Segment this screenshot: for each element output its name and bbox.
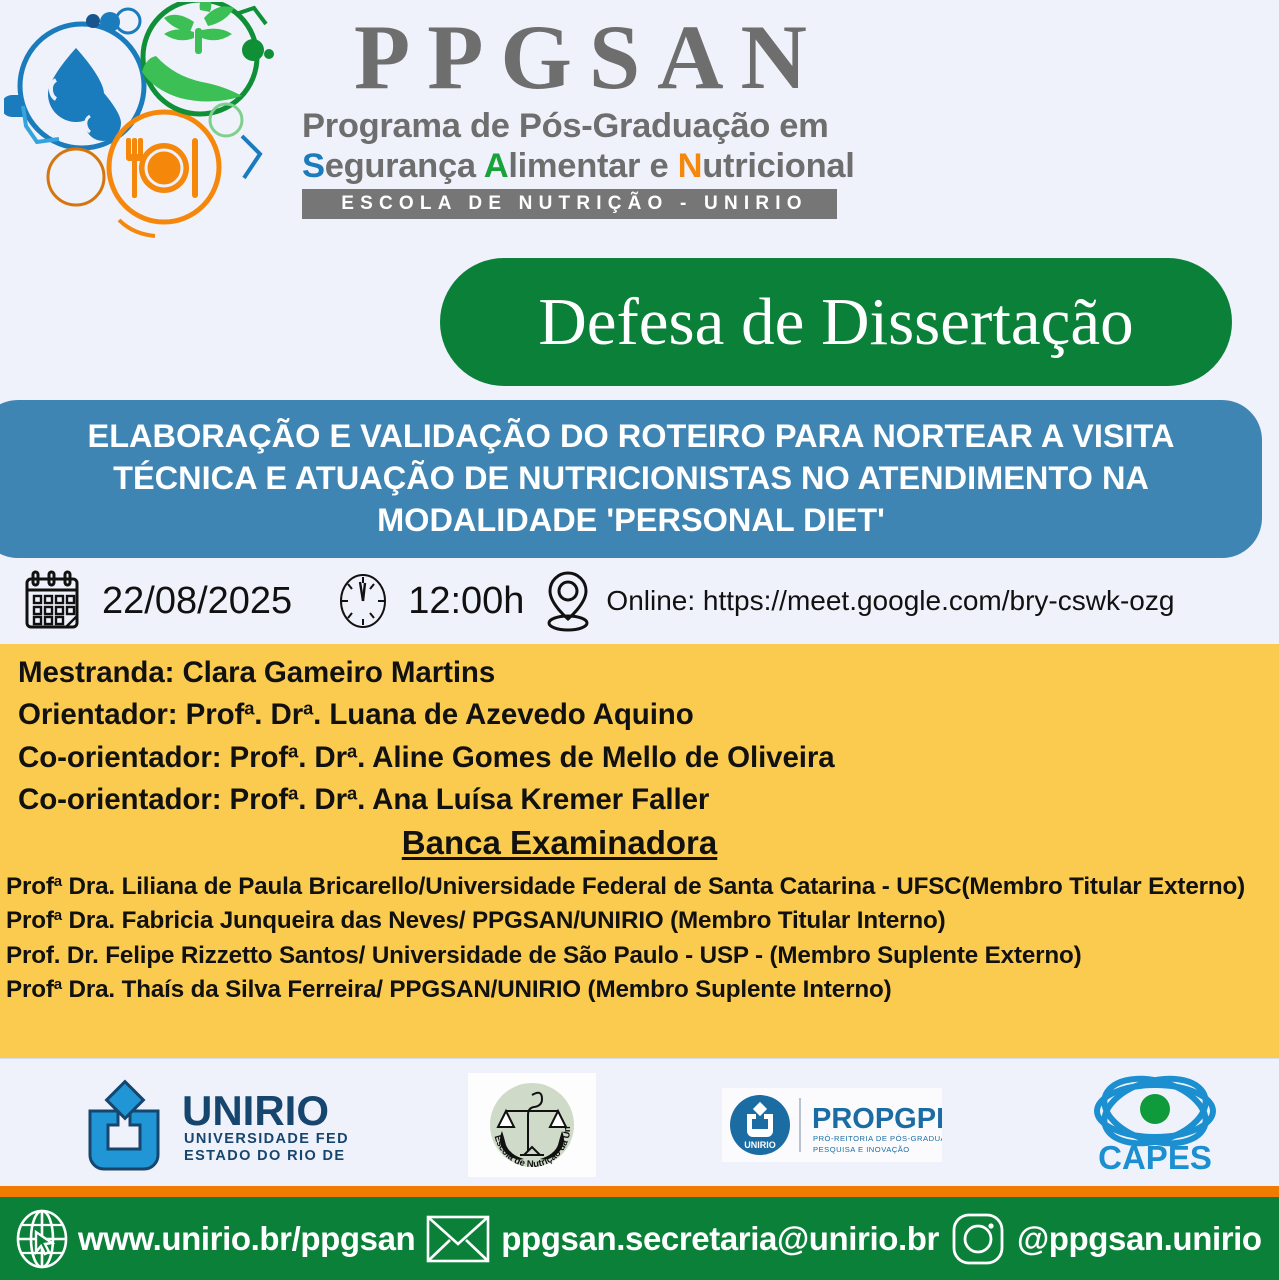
list-item: Profa Dra. Fabricia Junqueira das Neves/… xyxy=(6,904,1273,938)
event-place-value: Online: https://meet.google.com/bry-cswk… xyxy=(606,585,1174,617)
event-date: 22/08/2025 xyxy=(24,570,292,632)
sponsor-logos-strip: UNIRIO UNIVERSIDADE FEDERAL DO ESTADO DO… xyxy=(0,1058,1279,1186)
list-item: Co-orientador: Profa. Dra. Aline Gomes d… xyxy=(18,737,1279,779)
participants-section: Mestranda: Clara Gameiro Martins Orienta… xyxy=(0,644,1279,1058)
unirio-mark xyxy=(90,1082,158,1169)
footer-instagram-text: @ppgsan.unirio xyxy=(1017,1220,1262,1258)
propgpi-mark: UNIRIO xyxy=(744,1140,776,1150)
thesis-title: ELABORAÇÃO E VALIDAÇÃO DO ROTEIRO PARA N… xyxy=(40,416,1200,542)
header: PPGSAN Programa de Pós-Graduação em Segu… xyxy=(0,0,1279,252)
unirio-sub2: ESTADO DO RIO DE JANEIRO xyxy=(184,1148,348,1164)
escola-nutricao-logo: Escola de Nutrição da Unirio xyxy=(468,1073,596,1177)
committee-list: Profa Dra. Liliana de Paula Bricarello/U… xyxy=(0,862,1279,1007)
event-info-row: 22/08/2025 12:00h Online: https://meet.g… xyxy=(0,558,1279,644)
unirio-logo: UNIRIO UNIVERSIDADE FEDERAL DO ESTADO DO… xyxy=(78,1075,348,1171)
propgpi-logo: UNIRIO PROPGPI PRÓ-REITORIA DE PÓS-GRADU… xyxy=(722,1088,942,1162)
ppgsan-line2: Segurança Alimentar e Nutricional xyxy=(302,147,862,186)
event-date-value: 22/08/2025 xyxy=(102,580,292,623)
location-pin-icon xyxy=(542,569,594,633)
propgpi-sub2: PESQUISA E INOVAÇÃO xyxy=(813,1145,910,1154)
calendar-icon xyxy=(24,570,80,632)
committee-heading: Banca Examinadora xyxy=(0,824,1279,862)
ppgsan-emblem xyxy=(4,2,304,240)
footer-email-text: ppgsan.secretaria@unirio.br xyxy=(501,1220,939,1258)
ppgsan-wordmark: PPGSAN Programa de Pós-Graduação em Segu… xyxy=(302,8,862,219)
list-item: Prof. Dr. Felipe Rizzetto Santos/ Univer… xyxy=(6,939,1273,973)
event-time: 12:00h xyxy=(338,572,524,630)
globe-cursor-icon xyxy=(14,1208,70,1270)
people-list: Mestranda: Clara Gameiro Martins Orienta… xyxy=(0,652,1279,822)
event-time-value: 12:00h xyxy=(408,580,524,623)
contact-footer: www.unirio.br/ppgsan ppgsan.secretaria@u… xyxy=(0,1197,1279,1280)
list-item: Mestranda: Clara Gameiro Martins xyxy=(18,652,1279,694)
event-place: Online: https://meet.google.com/bry-cswk… xyxy=(542,569,1174,633)
capes-name: CAPES xyxy=(1098,1139,1212,1175)
thesis-title-banner: ELABORAÇÃO E VALIDAÇÃO DO ROTEIRO PARA N… xyxy=(0,400,1262,558)
event-type-label: Defesa de Dissertação xyxy=(538,284,1133,361)
footer-website[interactable]: www.unirio.br/ppgsan xyxy=(14,1208,415,1270)
instagram-icon xyxy=(949,1210,1007,1268)
ppgsan-acronym: PPGSAN xyxy=(302,8,862,107)
capes-logo: CAPES xyxy=(1080,1071,1230,1175)
plate-cutlery-icon xyxy=(126,138,198,198)
propgpi-name: PROPGPI xyxy=(812,1103,942,1135)
list-item: Orientador: Profa. Dra. Luana de Azevedo… xyxy=(18,694,1279,736)
clock-icon xyxy=(338,572,388,630)
propgpi-sub1: PRÓ-REITORIA DE PÓS-GRADUAÇÃO, xyxy=(813,1134,942,1143)
ppgsan-line1: Programa de Pós-Graduação em xyxy=(302,107,862,146)
footer-email[interactable]: ppgsan.secretaria@unirio.br xyxy=(425,1212,939,1266)
footer-instagram[interactable]: @ppgsan.unirio xyxy=(949,1210,1262,1268)
envelope-icon xyxy=(425,1212,491,1266)
list-item: Profa Dra. Thaís da Silva Ferreira/ PPGS… xyxy=(6,973,1273,1007)
footer-website-text: www.unirio.br/ppgsan xyxy=(78,1220,415,1258)
list-item: Profa Dra. Liliana de Paula Bricarello/U… xyxy=(6,870,1273,904)
orange-divider xyxy=(0,1186,1279,1197)
unirio-sub1: UNIVERSIDADE FEDERAL DO xyxy=(184,1131,348,1147)
school-bar: ESCOLA DE NUTRIÇÃO - UNIRIO xyxy=(302,189,837,219)
unirio-name: UNIRIO xyxy=(182,1087,329,1134)
list-item: Co-orientador: Profa. Dra. Ana Luísa Kre… xyxy=(18,779,1279,821)
event-type-banner: Defesa de Dissertação xyxy=(440,258,1232,386)
